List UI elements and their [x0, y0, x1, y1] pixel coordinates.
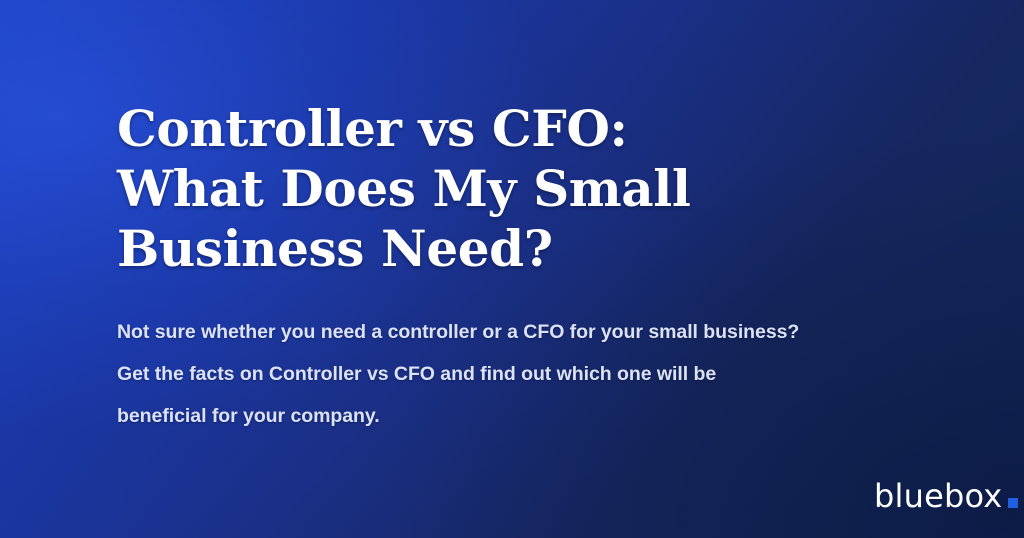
blog-header-banner: Controller vs CFO: What Does My Small Bu… [0, 0, 1024, 538]
square-dot-icon [1008, 498, 1018, 508]
banner-content: Controller vs CFO: What Does My Small Bu… [0, 0, 1024, 538]
logo-wordmark: bluebox [874, 480, 1002, 512]
page-title: Controller vs CFO: What Does My Small Bu… [117, 99, 757, 279]
page-description: Not sure whether you need a controller o… [117, 311, 807, 437]
bluebox-logo[interactable]: bluebox [874, 480, 1018, 512]
